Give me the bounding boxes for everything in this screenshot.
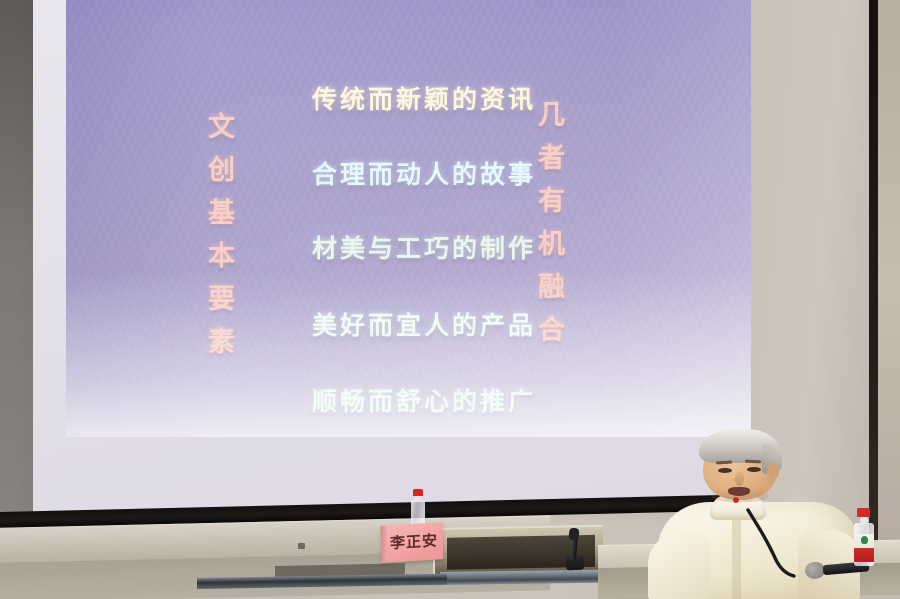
- gooseneck-microphone-icon[interactable]: [742, 508, 812, 578]
- desk-clip: [298, 543, 305, 549]
- nameplate-text: 李正安: [390, 533, 438, 551]
- projected-slide: 文创基本要素 传统而新颖的资讯 合理而动人的故事 材美与工巧的制作 美好而宜人的…: [66, 0, 751, 437]
- wall-far-right-panel: [878, 0, 900, 570]
- desk-microphone-head-icon: [568, 528, 579, 541]
- presenter-eye-right: [747, 467, 761, 472]
- slide-left-vertical-heading: 文创基本要素: [199, 112, 238, 370]
- water-bottle-right[interactable]: [853, 508, 875, 566]
- wall-left-dark-strip: [0, 0, 33, 570]
- nameplate-fold-edge: [381, 526, 388, 563]
- bottle-cap-icon: [857, 508, 870, 517]
- presenter-ear: [767, 463, 779, 480]
- slide-line-5: 顺畅而舒心的推广: [264, 382, 584, 418]
- bottle-cap-icon: [413, 489, 423, 496]
- projection-screen: 文创基本要素 传统而新颖的资讯 合理而动人的故事 材美与工巧的制作 美好而宜人的…: [33, 0, 718, 512]
- microphone-indicator-icon: [733, 497, 739, 503]
- presenter-nose: [735, 472, 744, 486]
- slide-content: 文创基本要素 传统而新颖的资讯 合理而动人的故事 材美与工巧的制作 美好而宜人的…: [66, 0, 751, 437]
- presenter-arm-left: [648, 534, 710, 599]
- speaker-nameplate: 李正安: [381, 522, 444, 563]
- presenter-shirt-placket: [732, 514, 741, 599]
- slide-right-vertical-heading: 几者有机融合: [529, 100, 568, 358]
- bottle-label-lower: [854, 548, 874, 562]
- presenter-eye-left: [718, 468, 732, 473]
- bottle-label-leaf-icon: [861, 536, 868, 544]
- lecture-hall-scene: 文创基本要素 传统而新颖的资讯 合理而动人的故事 材美与工巧的制作 美好而宜人的…: [0, 0, 900, 599]
- presenter-mouth: [728, 487, 750, 496]
